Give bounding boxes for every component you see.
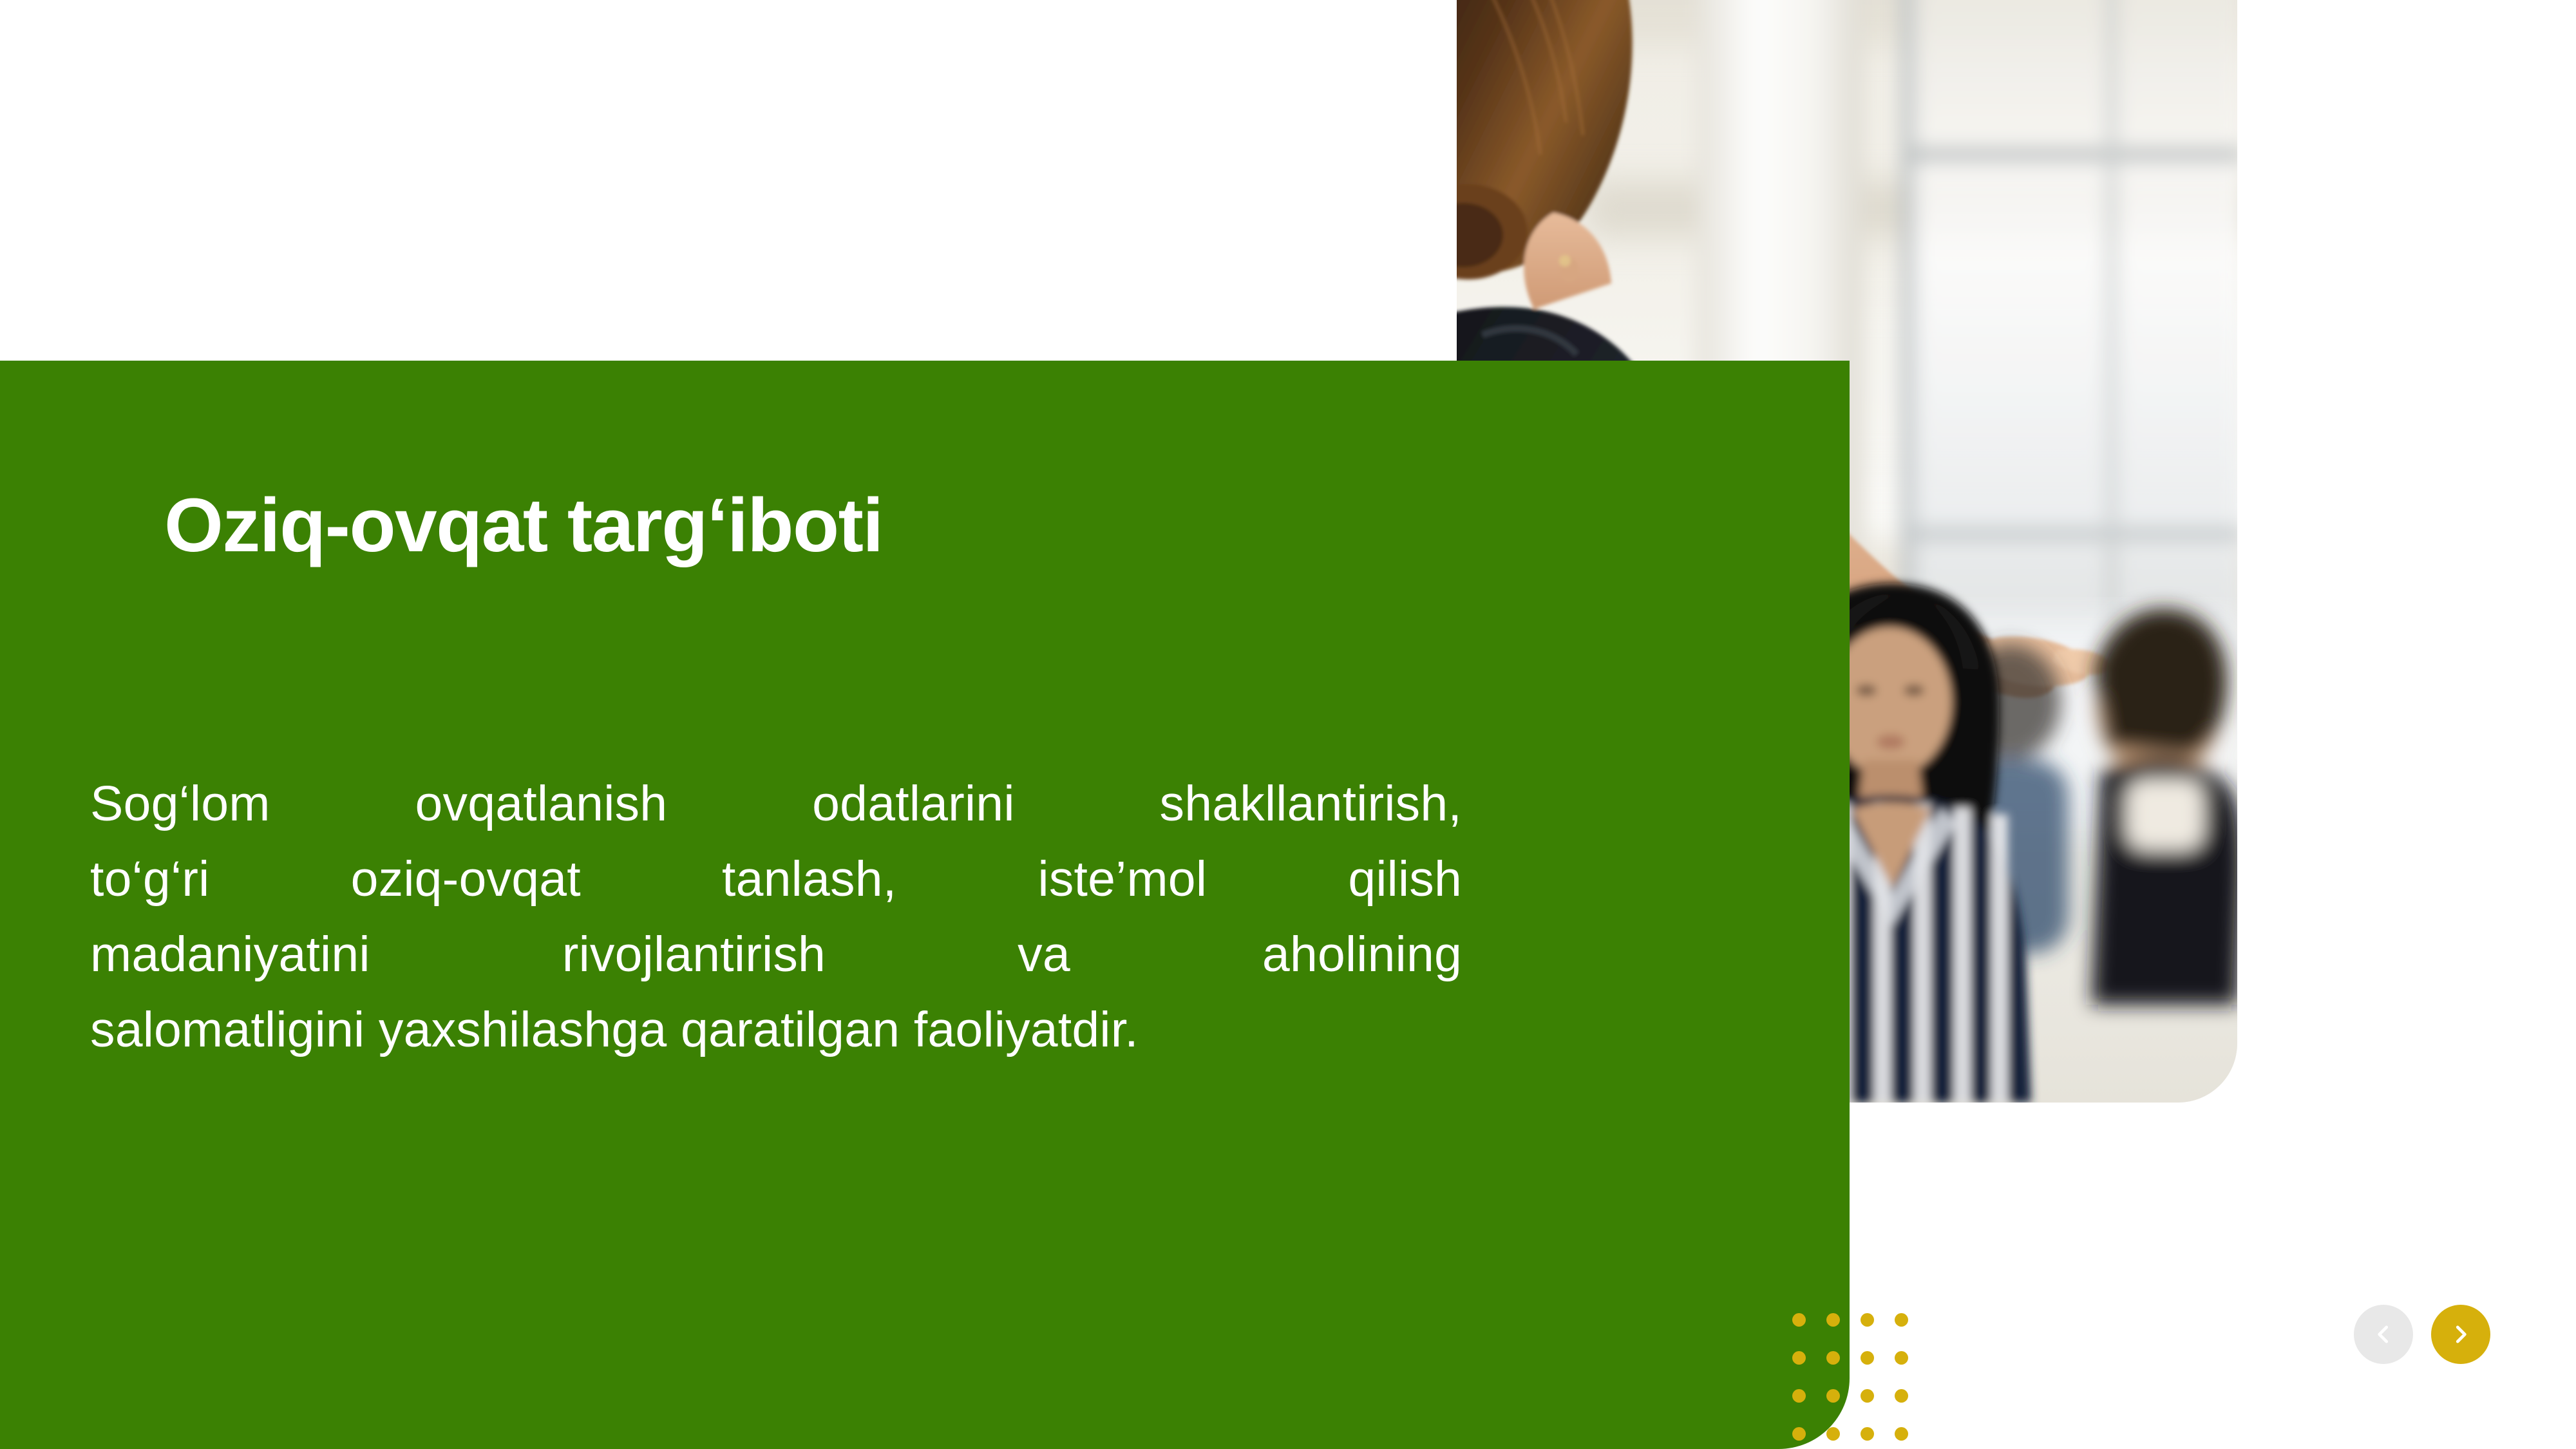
dot — [1861, 1427, 1874, 1441]
body-paragraph: Sog‘lom ovqatlanish odatlarini shakllant… — [90, 766, 1462, 1068]
page-title: Oziq-ovqat targ‘iboti — [164, 486, 1388, 566]
chevron-left-icon — [2371, 1322, 2396, 1347]
slide-navigation — [2354, 1305, 2490, 1364]
dot — [1826, 1427, 1840, 1441]
dot — [1861, 1313, 1874, 1327]
previous-slide-button[interactable] — [2354, 1305, 2413, 1364]
dot — [1861, 1351, 1874, 1365]
dot — [1895, 1351, 1908, 1365]
body-line-2: to‘g‘ri oziq-ovqat tanlash, iste’mol qil… — [90, 842, 1462, 917]
dot — [1895, 1313, 1908, 1327]
body-line-4: salomatligini yaxshilashga qaratilgan fa… — [90, 992, 1462, 1068]
next-slide-button[interactable] — [2431, 1305, 2490, 1364]
dot — [1895, 1427, 1908, 1441]
dot — [1895, 1389, 1908, 1403]
body-line-1: Sog‘lom ovqatlanish odatlarini shakllant… — [90, 766, 1462, 842]
slide-canvas: Oziq-ovqat targ‘iboti Sog‘lom ovqatlanis… — [0, 0, 2576, 1449]
dot — [1861, 1389, 1874, 1403]
chevron-right-icon — [2448, 1322, 2473, 1347]
body-line-3: madaniyatini rivojlantirish va aholining — [90, 917, 1462, 992]
